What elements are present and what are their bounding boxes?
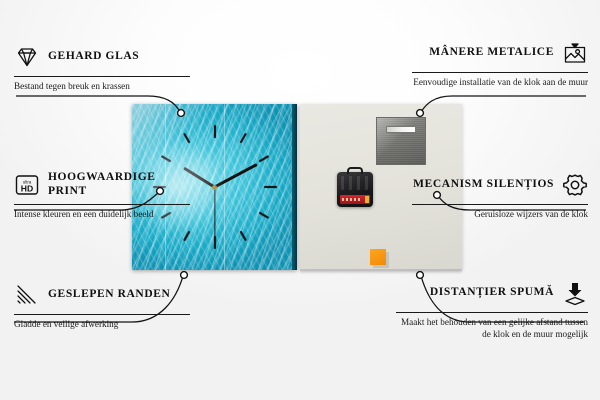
mechanism-hook bbox=[347, 167, 363, 174]
svg-text:HD: HD bbox=[21, 183, 33, 193]
spacer-arrow-icon bbox=[562, 280, 588, 306]
clock-center-pin bbox=[212, 185, 217, 190]
feature-divider bbox=[412, 204, 588, 205]
clock-minute-hand bbox=[214, 163, 258, 188]
metal-hanger-plate bbox=[376, 117, 426, 165]
feature-mecanism-silentios: MECANISM SILENȚIOS Geruisloze wijzers va… bbox=[412, 168, 588, 220]
feature-subtitle: Gladde en veilige afwerking bbox=[14, 318, 190, 330]
infographic-stage: GEHARD GLAS Bestand tegen breuk en krass… bbox=[0, 0, 600, 400]
gear-icon bbox=[562, 172, 588, 198]
clock-mechanism bbox=[337, 172, 373, 207]
feature-title: MECANISM SILENȚIOS bbox=[412, 178, 554, 192]
feature-divider bbox=[14, 204, 190, 205]
feature-title: MÂNERE METALICE bbox=[412, 46, 554, 60]
feature-divider bbox=[412, 72, 588, 73]
mechanism-emboss bbox=[341, 176, 369, 190]
feature-title: DISTANȚIER SPUMĂ bbox=[396, 286, 554, 300]
feature-subtitle: Intense kleuren en een duidelijk beeld bbox=[14, 208, 190, 220]
feature-title: HOOGWAARDIGE PRINT bbox=[48, 171, 190, 198]
bevelled-edge-icon bbox=[14, 282, 40, 308]
feature-subtitle: Geruisloze wijzers van de klok bbox=[412, 208, 588, 220]
feature-title: GESLEPEN RANDEN bbox=[48, 288, 190, 302]
feature-gehard-glas: GEHARD GLAS Bestand tegen breuk en krass… bbox=[14, 40, 190, 92]
diamond-icon bbox=[14, 44, 40, 70]
feature-hoogwaardige-print: ultra HD HOOGWAARDIGE PRINT Intense kleu… bbox=[14, 168, 190, 220]
feature-divider bbox=[14, 76, 190, 77]
hanging-frame-icon bbox=[562, 40, 588, 66]
feature-manere-metalice: MÂNERE METALICE Eenvoudige installatie v… bbox=[412, 36, 588, 88]
feature-subtitle: Maakt het behouden van een gelijke afsta… bbox=[396, 316, 588, 341]
feature-divider bbox=[14, 314, 190, 315]
foam-spacer bbox=[370, 249, 386, 265]
feature-divider bbox=[396, 312, 588, 313]
glass-edge bbox=[292, 104, 297, 270]
feature-geslepen-randen: GESLEPEN RANDEN Gladde en veilige afwerk… bbox=[14, 278, 190, 330]
feature-subtitle: Eenvoudige installatie van de klok aan d… bbox=[412, 76, 588, 88]
clock-second-hand bbox=[214, 187, 215, 243]
ultra-hd-icon: ultra HD bbox=[14, 172, 40, 198]
battery bbox=[340, 195, 370, 204]
feature-distantier-spuma: DISTANȚIER SPUMĂ Maakt het behouden van … bbox=[396, 276, 588, 341]
hanger-keyhole-slot bbox=[386, 126, 416, 133]
feature-subtitle: Bestand tegen breuk en krassen bbox=[14, 80, 190, 92]
feature-title: GEHARD GLAS bbox=[48, 50, 190, 64]
